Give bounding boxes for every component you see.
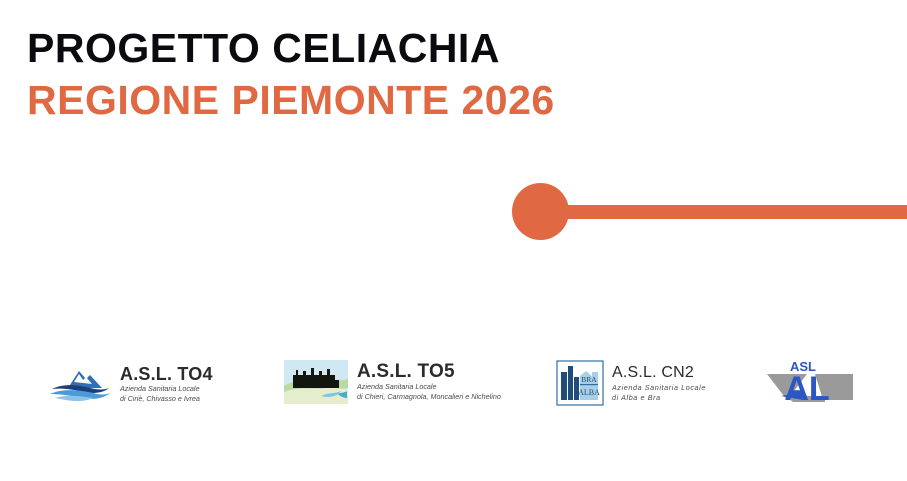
logo-asl-cn2-mark-label-top: BRA [581,375,597,384]
logo-asl-cn2: BRA ALBA A.S.L. CN2 Azienda Sanitaria Lo… [556,355,706,411]
logo-asl-to5-text: A.S.L. TO5 Azienda Sanitaria Locale di C… [357,362,501,402]
logo-asl-to5-subtitle-2: di Chieri, Carmagnola, Moncalieri e Nich… [357,392,501,402]
title-line-primary: PROGETTO CELIACHIA [27,22,827,74]
logo-asl-cn2-subtitle-2: di Alba e Bra [612,393,706,403]
logo-asl-to4-subtitle-1: Azienda Sanitaria Locale [120,384,213,394]
page-title: PROGETTO CELIACHIA REGIONE PIEMONTE 2026 [27,22,827,126]
logo-asl-to5-subtitle-1: Azienda Sanitaria Locale [357,382,501,392]
logo-strip: A.S.L. TO4 Azienda Sanitaria Locale di C… [0,352,907,414]
logo-asl-al-mark-label-main: AL [784,370,829,408]
logo-asl-to5: A.S.L. TO5 Azienda Sanitaria Locale di C… [283,354,501,410]
accent-dot-icon [512,183,569,240]
logo-asl-cn2-name: A.S.L. CN2 [612,363,706,383]
title-line-secondary: REGIONE PIEMONTE 2026 [27,74,827,126]
logo-asl-to5-name: A.S.L. TO5 [357,362,501,382]
logo-asl-cn2-mark-label-bottom: ALBA [578,388,600,397]
accent-decoration [0,183,907,241]
asl-al-monogram-icon: ASL AL [763,356,857,408]
logo-asl-cn2-subtitle-1: Azienda Sanitaria Locale [612,383,706,393]
skyline-landscape-icon [283,358,349,406]
logo-asl-to4-subtitle-2: di Ciriè, Chivasso e Ivrea [120,394,213,404]
logo-asl-to4-name: A.S.L. TO4 [120,364,213,384]
logo-asl-cn2-text: A.S.L. CN2 Azienda Sanitaria Locale di A… [612,363,706,403]
logo-asl-al: ASL AL [763,354,857,410]
mountain-wave-icon [48,362,112,406]
slide-canvas: PROGETTO CELIACHIA REGIONE PIEMONTE 2026… [0,0,907,481]
accent-rule [540,205,907,219]
logo-asl-to4: A.S.L. TO4 Azienda Sanitaria Locale di C… [48,356,213,412]
bra-alba-towers-icon: BRA ALBA [556,360,604,406]
logo-asl-to4-text: A.S.L. TO4 Azienda Sanitaria Locale di C… [120,364,213,404]
